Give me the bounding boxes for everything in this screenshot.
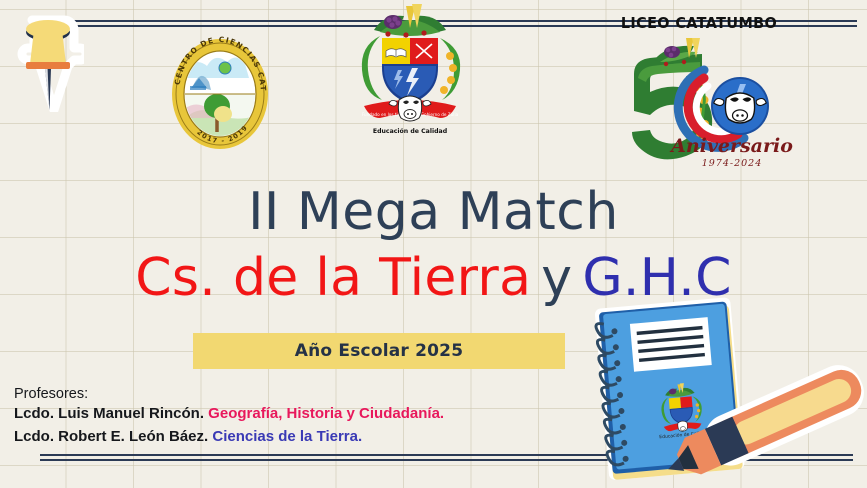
escudo-del-zulia: Fundado en los tiempos del Gobierno de Z… xyxy=(340,0,480,140)
subtitle-conjunction: y xyxy=(531,248,582,308)
school-year-banner: Año Escolar 2025 xyxy=(193,333,565,369)
zulia-caption: Educación de Calidad xyxy=(373,127,447,135)
pushpin-icon xyxy=(12,12,84,112)
liceo-catatumbo-50-aniversario: LICEO CATATUMBO xyxy=(604,16,794,176)
professor-name: Lcdo. Luis Manuel Rincón. xyxy=(14,405,204,422)
professors-heading: Profesores: xyxy=(14,385,444,403)
professor-entry: Lcdo. Luis Manuel Rincón. Geografía, His… xyxy=(14,403,444,426)
notebook-and-marker-illustration: Educación de Calidad xyxy=(588,296,867,488)
slide-canvas: CENTRO DE CIENCIAS CATATUMBO 2017 - 2019 xyxy=(0,0,867,488)
centro-de-ciencias-catatumbo-seal: CENTRO DE CIENCIAS CATATUMBO 2017 - 2019 xyxy=(163,28,277,152)
professor-subject: Geografía, Historia y Ciudadanía. xyxy=(204,405,444,422)
professor-entry: Lcdo. Robert E. León Báez. Ciencias de l… xyxy=(14,426,444,449)
professors-block: Profesores: Lcdo. Luis Manuel Rincón. Ge… xyxy=(14,385,444,448)
page-title: II Mega Match xyxy=(0,186,867,238)
school-year-label: Año Escolar 2025 xyxy=(295,341,463,361)
aniversario-label: Aniversario xyxy=(669,135,793,157)
professor-subject: Ciencias de la Tierra. xyxy=(208,428,362,445)
subtitle-part-earth-sciences: Cs. de la Tierra xyxy=(135,248,531,308)
aniversario-years: 1974-2024 xyxy=(702,158,763,169)
professor-name: Lcdo. Robert E. León Báez. xyxy=(14,428,208,445)
